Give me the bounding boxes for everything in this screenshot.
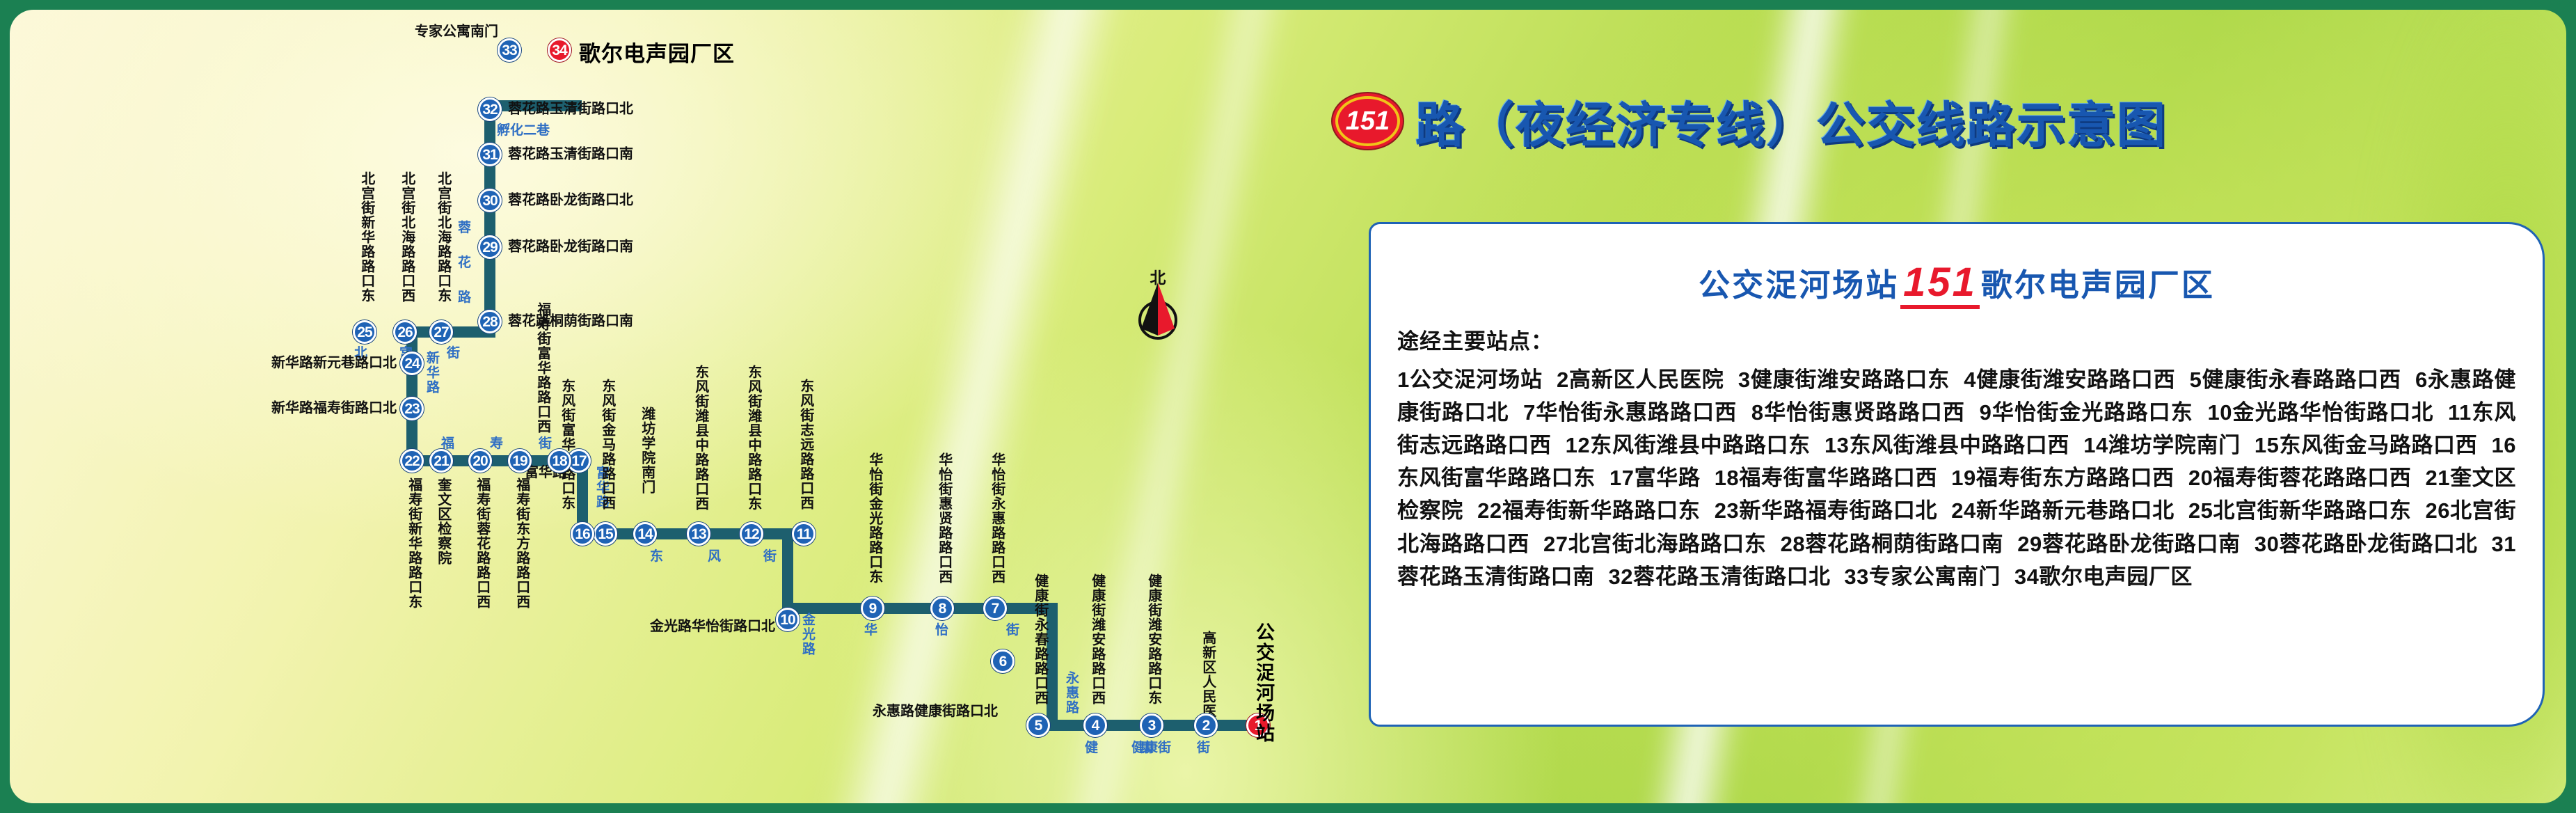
road-label-fushou-c: 街 — [539, 433, 552, 452]
road-label-fuhua-2xiang: 孵化二巷 — [497, 120, 550, 139]
station-marker-6[interactable]: 6 — [991, 649, 1015, 673]
station-label-12: 东风街潍县中路路口东 — [746, 365, 761, 511]
station-marker-9[interactable]: 9 — [861, 597, 884, 620]
stop-list-item: 27北宫街北海路路口东 — [1543, 532, 1767, 556]
panel-lead-label: 途经主要站点： — [1397, 324, 2516, 355]
stop-list-item: 19福寿街东方路路口西 — [1951, 466, 2175, 490]
route-segment — [782, 528, 793, 608]
stop-list-item: 34歌尔电声园厂区 — [2014, 565, 2193, 589]
station-marker-4[interactable]: 4 — [1083, 713, 1107, 737]
stop-list-item: 24新华路新元巷路口北 — [1951, 498, 2175, 523]
route-segment — [484, 100, 495, 333]
station-marker-23[interactable]: 23 — [400, 397, 424, 420]
station-label-29: 蓉花路卧龙街路口南 — [508, 240, 633, 255]
road-label-ronghua-b: 花 — [458, 252, 471, 271]
station-marker-20[interactable]: 20 — [468, 449, 492, 473]
station-label-22: 福寿街新华路路口东 — [406, 477, 421, 609]
route-segment — [782, 603, 1058, 614]
panel-header-destination: 歌尔电声园厂区 — [1981, 267, 2215, 303]
station-marker-33[interactable]: 33 — [498, 38, 521, 62]
station-marker-10[interactable]: 10 — [776, 608, 800, 631]
road-label-jiankang-c: 街 — [1197, 737, 1210, 756]
station-label-6: 永惠路健康街路口北 — [873, 704, 998, 719]
station-marker-22[interactable]: 22 — [400, 449, 424, 473]
station-marker-5[interactable]: 5 — [1026, 713, 1050, 737]
road-label-dongfeng-b: 风 — [708, 546, 721, 565]
station-marker-7[interactable]: 7 — [983, 597, 1007, 620]
poster-title: 151 路（夜经济专线）公交线路示意图 — [1335, 86, 2560, 156]
stop-list-item: 8华怡街惠贤路路口西 — [1751, 400, 1965, 425]
station-marker-19[interactable]: 19 — [508, 449, 532, 473]
station-marker-21[interactable]: 21 — [429, 449, 453, 473]
station-marker-34[interactable]: 34 — [548, 38, 571, 62]
station-label-23: 新华路福寿街路口北 — [271, 402, 397, 416]
station-marker-27[interactable]: 27 — [429, 320, 453, 344]
station-label-1: 公交浞河场站 — [1250, 622, 1278, 743]
road-label-jiankang-b: 康 — [1140, 737, 1154, 756]
route-info-panel: 公交浞河场站151歌尔电声园厂区 途经主要站点： 1公交浞河场站 2高新区人民医… — [1369, 222, 2545, 727]
road-label-fushou-b: 寿 — [490, 433, 503, 452]
station-label-28: 蓉花路桐荫街路口南 — [508, 315, 633, 329]
stop-list-item: 25北宫街新华路路口东 — [2188, 498, 2412, 523]
panel-header: 公交浞河场站151歌尔电声园厂区 — [1397, 259, 2516, 306]
stop-list-item: 2高新区人民医院 — [1557, 368, 1724, 392]
station-marker-3[interactable]: 3 — [1140, 713, 1163, 737]
station-label-19: 福寿街东方路路口西 — [514, 477, 529, 609]
station-marker-16[interactable]: 16 — [571, 522, 594, 546]
road-label-jinguang: 金光路 — [798, 613, 817, 656]
station-label-24: 新华路新元巷路口北 — [271, 356, 397, 371]
stop-list-item: 29蓉花路卧龙街路口南 — [2017, 532, 2241, 556]
title-text: 路（夜经济专线）公交线路示意图 — [1415, 86, 2167, 157]
station-marker-2[interactable]: 2 — [1194, 713, 1218, 737]
road-label-yonghui: 永惠路 — [1062, 671, 1081, 715]
route-diagram: #map > .line { display:none; } #map > .s… — [10, 10, 1332, 803]
station-marker-8[interactable]: 8 — [930, 597, 954, 620]
station-label-25: 北宫街新华路路口东 — [359, 171, 374, 303]
station-label-11: 东风街志远路路口西 — [798, 379, 813, 510]
station-marker-30[interactable]: 30 — [478, 189, 502, 212]
station-label-21: 奎文区检察院 — [436, 477, 450, 565]
stop-list-item: 28蓉花路桐荫街路口南 — [1781, 532, 2004, 556]
station-label-15: 东风街金马路路口西 — [600, 379, 614, 510]
station-label-20: 福寿街蓉花路路口西 — [475, 477, 489, 609]
station-label-16: 东风街富华路路口东 — [559, 379, 574, 510]
route-map-poster: #map > .line { display:none; } #map > .s… — [0, 0, 2576, 813]
poster-canvas: #map > .line { display:none; } #map > .s… — [10, 10, 2566, 803]
station-label-3: 健康街潍安路路口东 — [1146, 574, 1161, 705]
stop-list-item: 13东风街潍县中路路口西 — [1824, 433, 2069, 457]
station-marker-25[interactable]: 25 — [353, 320, 376, 344]
road-label-ronghua-c: 路 — [458, 287, 471, 306]
stop-list-item: 17富华路 — [1609, 466, 1701, 490]
road-label-ronghua-a: 蓉 — [458, 217, 471, 236]
station-label-14: 潍坊学院南门 — [639, 406, 654, 494]
road-label-huayi-c: 街 — [1006, 619, 1019, 638]
station-label-8: 华怡街惠贤路路口西 — [937, 452, 951, 584]
road-label-huayi-b: 怡 — [935, 619, 948, 638]
station-label-5: 健康街永春路路口西 — [1033, 574, 1047, 705]
station-label-30: 蓉花路卧龙街路口北 — [508, 194, 633, 208]
station-marker-12[interactable]: 12 — [740, 522, 763, 546]
stop-list-item: 7华怡街永惠路路口西 — [1523, 400, 1737, 425]
station-label-34: 歌尔电声园厂区 — [579, 36, 735, 68]
stop-list-item: 32蓉花路玉清街路口北 — [1608, 565, 1830, 589]
stop-list-item: 4健康街潍安路路口西 — [1964, 368, 2175, 392]
station-marker-14[interactable]: 14 — [633, 522, 657, 546]
station-marker-29[interactable]: 29 — [478, 235, 502, 259]
station-label-7: 华怡街永惠路路口西 — [989, 452, 1004, 584]
station-label-13: 东风街潍县中路路口西 — [693, 365, 708, 511]
station-marker-15[interactable]: 15 — [594, 522, 617, 546]
stop-list-item: 23新华路福寿街路口北 — [1715, 498, 1938, 523]
stop-list-item: 18福寿街富华路路口西 — [1715, 466, 1938, 490]
station-label-33: 专家公寓南门 — [415, 25, 498, 40]
stop-list-item: 20福寿街蓉花路路口西 — [2188, 466, 2412, 490]
stop-list-item: 15东风街金马路路口西 — [2255, 433, 2478, 457]
stop-list-item: 22福寿街新华路路口东 — [1477, 498, 1701, 523]
station-label-10: 金光路华怡街路口北 — [650, 619, 775, 634]
station-marker-28[interactable]: 28 — [478, 310, 502, 333]
station-label-26: 北宫街北海路路口西 — [399, 171, 414, 303]
station-marker-13[interactable]: 13 — [687, 522, 710, 546]
stop-list-item: 30蓉花路卧龙街路口北 — [2255, 532, 2478, 556]
stop-list-item: 10金光路华怡街路口北 — [2207, 400, 2433, 425]
station-marker-24[interactable]: 24 — [400, 352, 424, 375]
station-marker-26[interactable]: 26 — [393, 320, 417, 344]
station-label-32: 蓉花路玉清街路口北 — [508, 102, 633, 117]
station-marker-31[interactable]: 31 — [478, 143, 502, 166]
stop-list-item: 14潍坊学院南门 — [2083, 433, 2241, 457]
stop-list-item: 12东风街潍县中路路口东 — [1566, 433, 1811, 457]
stop-list-item: 9华怡街金光路路口东 — [1980, 400, 2193, 425]
station-marker-11[interactable]: 11 — [792, 522, 816, 546]
road-label-dongfeng-a: 东 — [650, 546, 663, 565]
station-label-4: 健康街潍安路路口西 — [1090, 574, 1104, 705]
compass-north-icon: 北 — [1131, 267, 1184, 344]
road-label-huayi-a: 华 — [864, 619, 877, 638]
road-label-dongfeng-c: 街 — [763, 546, 777, 565]
stop-list-item: 1公交浞河场站 — [1397, 368, 1543, 392]
station-marker-18[interactable]: 18 — [548, 449, 571, 473]
route-number-badge: 151 — [1335, 96, 1400, 146]
panel-header-origin: 公交浞河场站 — [1699, 267, 1899, 303]
station-label-31: 蓉花路玉清街路口南 — [508, 148, 633, 162]
station-label-9: 华怡街金光路路口东 — [867, 452, 882, 584]
stop-list-item: 33专家公寓南门 — [1844, 565, 2000, 589]
stop-list-item: 3健康街潍安路路口东 — [1738, 368, 1950, 392]
panel-stop-list: 1公交浞河场站 2高新区人民医院 3健康街潍安路路口东 4健康街潍安路路口西 5… — [1397, 363, 2516, 593]
road-label-jiankang-a: 健 — [1085, 737, 1098, 756]
road-label-beigong-c: 街 — [447, 342, 460, 361]
road-label-xinhua: 新华路 — [422, 351, 441, 395]
stop-list-item: 5健康街永春路路口西 — [2190, 368, 2401, 392]
panel-header-route-number: 151 — [1900, 260, 1980, 309]
station-marker-32[interactable]: 32 — [478, 97, 502, 121]
station-label-27: 北宫街北海路路口东 — [436, 171, 450, 303]
